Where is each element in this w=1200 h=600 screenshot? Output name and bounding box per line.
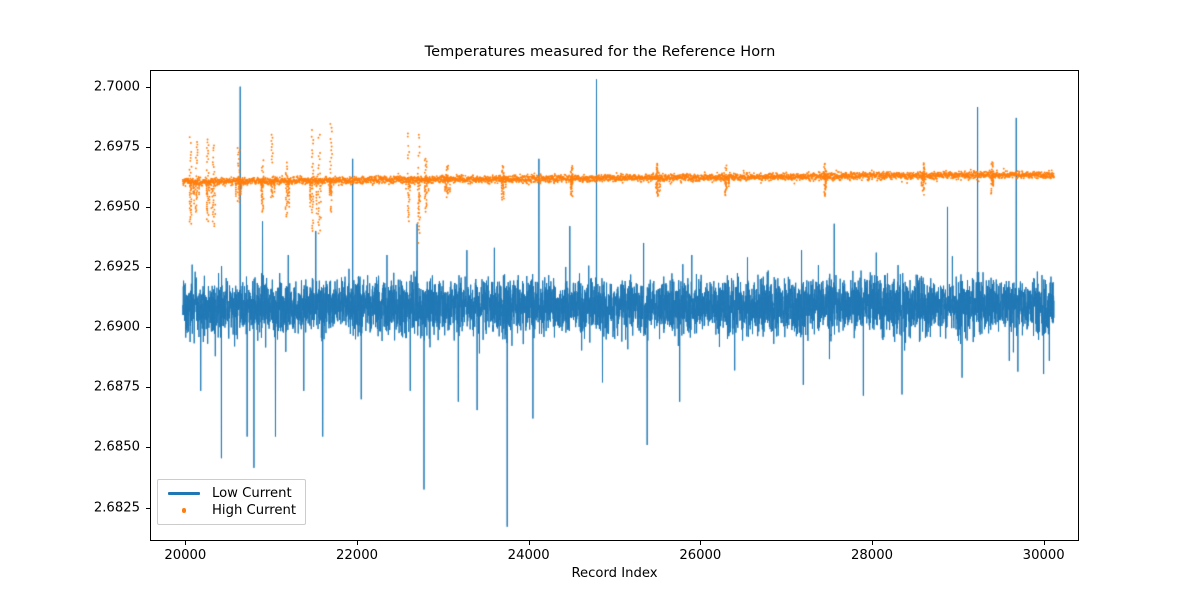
y-tick-mark — [146, 327, 150, 328]
y-tick-mark — [146, 387, 150, 388]
page-title: Temperatures measured for the Reference … — [0, 44, 1200, 60]
y-tick-label: 2.6875 — [60, 380, 140, 395]
y-tick-label: 2.6975 — [60, 139, 140, 154]
legend-label: High Current — [212, 503, 296, 518]
legend-line-swatch-icon — [165, 492, 203, 494]
x-tick-label: 28000 — [851, 548, 893, 563]
y-tick-label: 2.7000 — [60, 79, 140, 94]
x-tick-label: 26000 — [679, 548, 721, 563]
legend-item-high-current[interactable]: High Current — [165, 502, 296, 519]
x-tick-mark — [185, 541, 186, 545]
x-tick-mark — [357, 541, 358, 545]
x-tick-label: 24000 — [508, 548, 550, 563]
y-tick-mark — [146, 87, 150, 88]
y-tick-mark — [146, 508, 150, 509]
y-tick-mark — [146, 147, 150, 148]
legend-label: Low Current — [212, 486, 292, 501]
y-tick-label: 2.6850 — [60, 440, 140, 455]
x-tick-label: 30000 — [1023, 548, 1065, 563]
y-tick-mark — [146, 207, 150, 208]
y-tick-label: 2.6950 — [60, 199, 140, 214]
x-tick-label: 20000 — [164, 548, 206, 563]
x-tick-label: 22000 — [336, 548, 378, 563]
y-tick-mark — [146, 447, 150, 448]
y-tick-label: 2.6900 — [60, 320, 140, 335]
chart-canvas — [151, 71, 1078, 540]
y-tick-label: 2.6825 — [60, 500, 140, 515]
x-tick-mark — [872, 541, 873, 545]
y-tick-label: 2.6925 — [60, 260, 140, 275]
plot-area — [150, 70, 1079, 541]
chart-figure: Temperatures measured for the Reference … — [0, 0, 1200, 600]
chart-legend: Low Current High Current — [157, 479, 306, 525]
legend-dot-swatch-icon — [165, 508, 203, 513]
x-tick-mark — [529, 541, 530, 545]
x-axis-label: Record Index — [150, 566, 1079, 581]
x-tick-mark — [1044, 541, 1045, 545]
x-tick-mark — [700, 541, 701, 545]
legend-item-low-current[interactable]: Low Current — [165, 485, 296, 502]
y-tick-mark — [146, 267, 150, 268]
